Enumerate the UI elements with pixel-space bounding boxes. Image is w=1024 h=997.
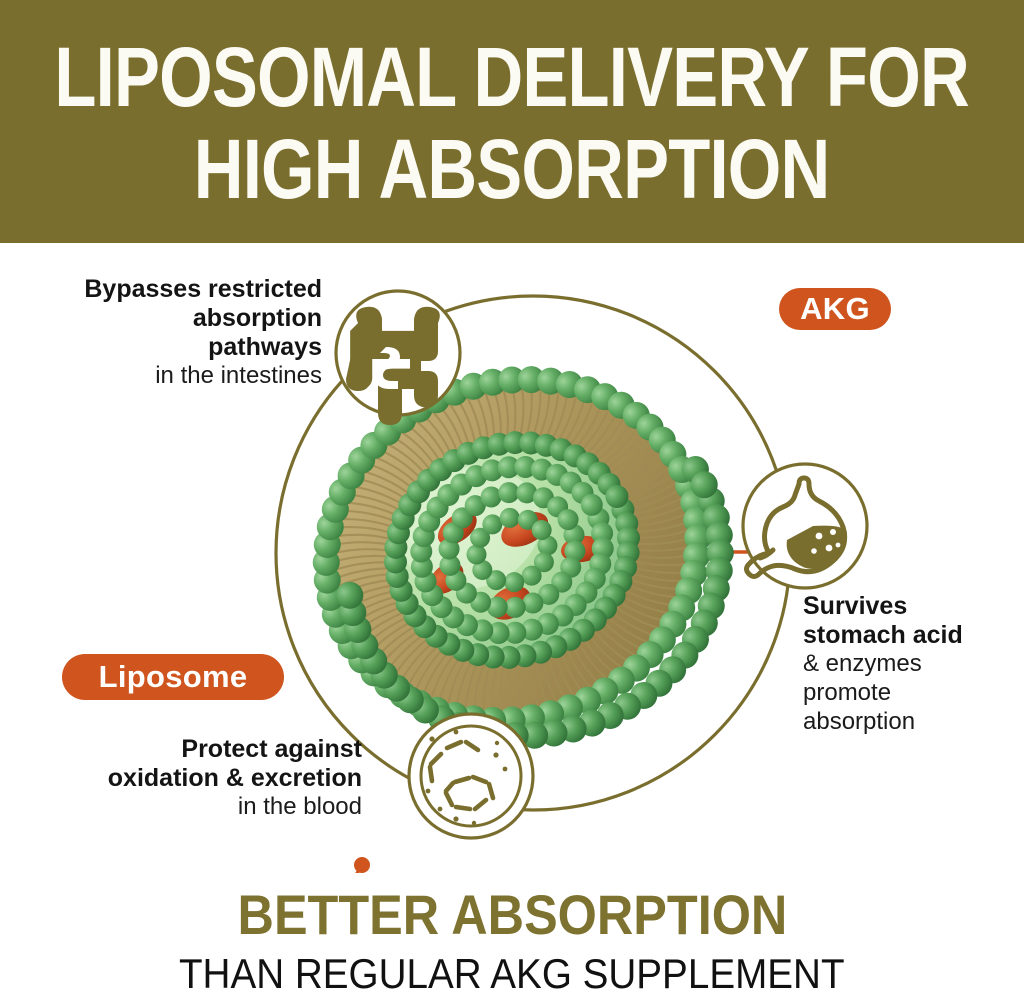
callout-blood-bold-1: Protect against (0, 735, 362, 764)
infographic-page: LIPOSOMAL DELIVERY FOR HIGH ABSORPTION (0, 0, 1024, 997)
badge-akg[interactable]: AKG (779, 288, 891, 330)
footer-main-text: BETTER ABSORPTION (237, 887, 787, 943)
header-band: LIPOSOMAL DELIVERY FOR HIGH ABSORPTION (0, 0, 1024, 243)
callout-blood-light: in the blood (0, 793, 362, 822)
callout-stomach-light-2: promote (803, 679, 1018, 708)
footer-block: BETTER ABSORPTION THAN REGULAR AKG SUPPL… (0, 873, 1024, 997)
callout-stomach-bold-2: stomach acid (803, 621, 1018, 650)
stomach-icon-bubble (743, 464, 867, 588)
callout-intestines: Bypasses restricted absorption pathways … (0, 275, 322, 391)
callout-blood-bold-2: oxidation & excretion (0, 764, 362, 793)
callout-intestines-bold-3: pathways (0, 333, 322, 362)
callout-blood: Protect against oxidation & excretion in… (0, 735, 362, 822)
callout-intestines-light: in the intestines (0, 362, 322, 391)
badge-liposome[interactable]: Liposome (62, 654, 284, 700)
callout-stomach-light-1: & enzymes (803, 650, 1018, 679)
footer-sub-text: THAN REGULAR AKG SUPPLEMENT (179, 953, 845, 995)
callout-intestines-bold-1: Bypasses restricted (0, 275, 322, 304)
callout-stomach-bold-1: Survives (803, 592, 1018, 621)
callout-stomach: Survives stomach acid & enzymes promote … (803, 592, 1018, 736)
callout-stomach-light-3: absorption (803, 708, 1018, 737)
blood-bacteria-icon-bubble (409, 714, 533, 838)
header-title-line-2: HIGH ABSORPTION (194, 129, 830, 210)
leader-line-liposome (284, 857, 370, 873)
callout-intestines-bold-2: absorption (0, 304, 322, 333)
header-title-line-1: LIPOSOMAL DELIVERY FOR (55, 37, 970, 118)
